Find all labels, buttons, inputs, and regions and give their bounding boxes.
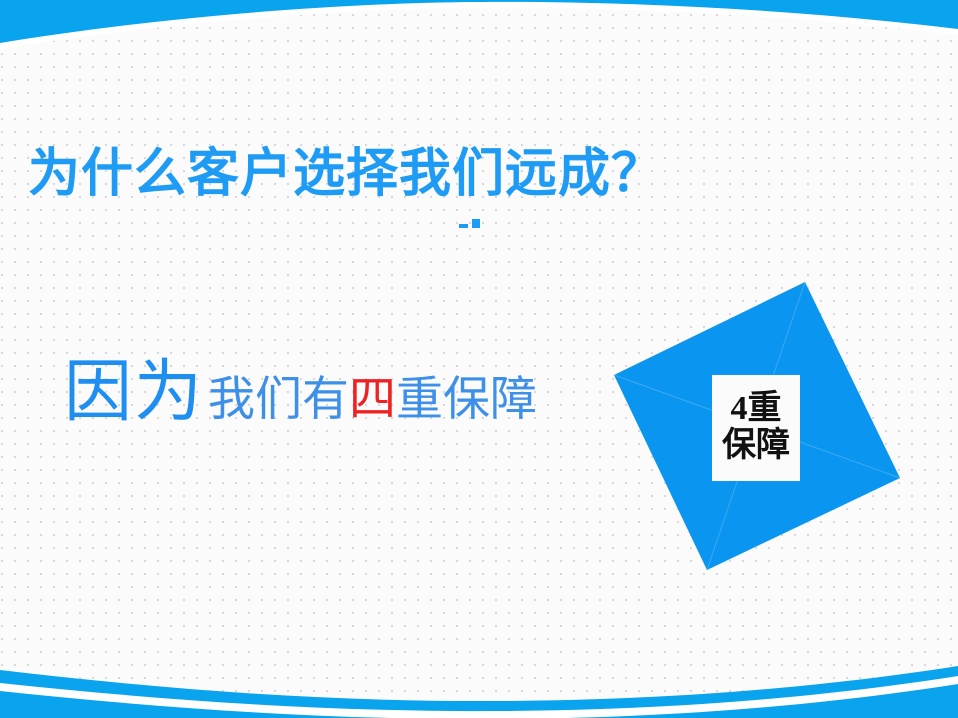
subtitle-line: 因为 我们有 四 重保障: [64, 358, 537, 426]
bottom-wave-decoration: [0, 638, 958, 718]
slide-canvas: 为什么客户选择我们远成？ 因为 我们有 四 重保障 4重 保障: [0, 0, 958, 718]
badge-line-2: 保障: [722, 428, 790, 465]
diamond-graphic: 4重 保障: [600, 265, 920, 585]
subtitle-lead: 因为: [64, 358, 204, 426]
top-wave-decoration: [0, 0, 958, 60]
subtitle-body-after: 重保障: [396, 375, 537, 422]
stray-mark-a: [459, 224, 468, 228]
badge-label: 4重 保障: [712, 375, 800, 481]
stray-mark-b: [472, 219, 480, 228]
badge-line-1: 4重: [731, 391, 782, 428]
page-title: 为什么客户选择我们远成？: [28, 146, 664, 203]
subtitle-highlight: 四: [349, 375, 396, 422]
subtitle-body-before: 我们有: [208, 375, 349, 422]
